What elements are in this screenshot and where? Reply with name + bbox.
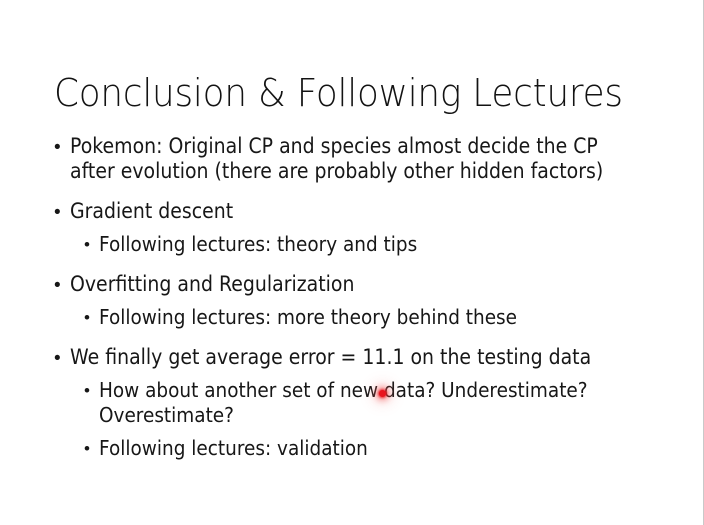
sub-list-item-label: Following lectures: more theory behind t… xyxy=(99,305,644,330)
group-spacer xyxy=(0,192,704,199)
bullet-point-icon: • xyxy=(54,272,70,295)
sub-list-item-label: Following lectures: theory and tips xyxy=(99,232,644,257)
group-spacer xyxy=(0,338,704,345)
list-item: • Gradient descent xyxy=(0,199,704,224)
list-item-label: Overfitting and Regularization xyxy=(70,272,641,297)
list-item: • We finally get average error = 11.1 on… xyxy=(0,345,704,370)
bullet-point-icon: • xyxy=(84,232,99,253)
sub-list-item: • Following lectures: theory and tips xyxy=(0,232,704,257)
sub-list-item-label: How about another set of new data? Under… xyxy=(99,378,644,428)
list-item: • Overfitting and Regularization xyxy=(0,272,704,297)
list-item-label: Pokemon: Original CP and species almost … xyxy=(70,134,641,184)
sub-list-item: • Following lectures: more theory behind… xyxy=(0,305,704,330)
sub-list-item: • Following lectures: validation xyxy=(0,436,704,461)
sub-list-item: • How about another set of new data? Und… xyxy=(0,378,704,428)
bullet-point-icon: • xyxy=(54,345,70,368)
group-spacer xyxy=(0,265,704,272)
bullet-point-icon: • xyxy=(84,305,99,326)
bullet-point-icon: • xyxy=(84,378,99,399)
list-item-label: We finally get average error = 11.1 on t… xyxy=(70,345,641,370)
presentation-slide: Conclusion & Following Lectures • Pokemo… xyxy=(0,0,704,525)
bullet-point-icon: • xyxy=(54,134,70,157)
page-title: Conclusion & Following Lectures xyxy=(54,73,618,114)
sub-list-item-label: Following lectures: validation xyxy=(99,436,644,461)
list-item: • Pokemon: Original CP and species almos… xyxy=(0,134,704,184)
bullet-point-icon: • xyxy=(84,436,99,457)
bullet-point-icon: • xyxy=(54,199,70,222)
slide-body-outline: • Pokemon: Original CP and species almos… xyxy=(0,134,704,469)
list-item-label: Gradient descent xyxy=(70,199,641,224)
